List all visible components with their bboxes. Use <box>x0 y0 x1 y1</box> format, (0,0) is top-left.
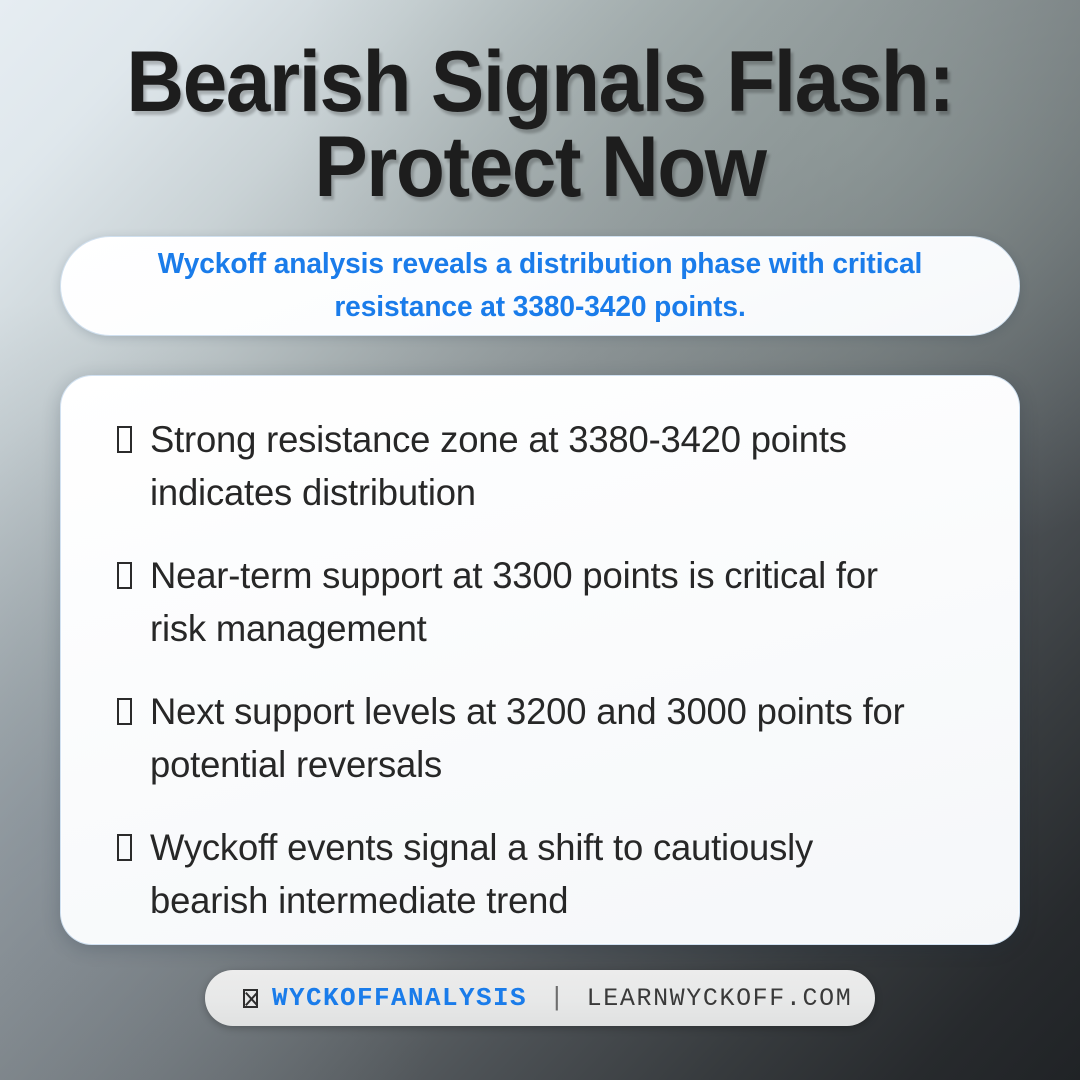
missing-glyph-boxed-x-icon <box>243 989 258 1008</box>
brand-website: LEARNWYCKOFF.COM <box>587 984 853 1013</box>
footer-branding-bar: WYCKOFFANALYSIS | LEARNWYCKOFF.COM <box>205 970 875 1026</box>
list-item-label: Near-term support at 3300 points is crit… <box>150 550 928 655</box>
missing-glyph-box-icon <box>117 834 132 861</box>
footer-separator: | <box>541 983 573 1013</box>
list-item: Next support levels at 3200 and 3000 poi… <box>117 686 973 791</box>
missing-glyph-box-icon <box>117 698 132 725</box>
subtitle-text: Wyckoff analysis reveals a distribution … <box>122 243 958 328</box>
list-item: Near-term support at 3300 points is crit… <box>117 550 973 655</box>
list-item: Strong resistance zone at 3380-3420 poin… <box>117 414 973 519</box>
missing-glyph-box-icon <box>117 426 132 453</box>
poster-canvas: Bearish Signals Flash: Protect Now Wycko… <box>0 0 1080 1080</box>
list-item-label: Next support levels at 3200 and 3000 poi… <box>150 686 928 791</box>
list-item-label: Wyckoff events signal a shift to cautiou… <box>150 822 928 927</box>
bullet-card: Strong resistance zone at 3380-3420 poin… <box>60 375 1020 945</box>
page-title: Bearish Signals Flash: Protect Now <box>84 40 995 210</box>
list-item-label: Strong resistance zone at 3380-3420 poin… <box>150 414 928 519</box>
missing-glyph-box-icon <box>117 562 132 589</box>
brand-handle: WYCKOFFANALYSIS <box>272 983 527 1013</box>
subtitle-pill: Wyckoff analysis reveals a distribution … <box>60 236 1020 336</box>
title-block: Bearish Signals Flash: Protect Now <box>0 40 1080 210</box>
list-item: Wyckoff events signal a shift to cautiou… <box>117 822 973 927</box>
